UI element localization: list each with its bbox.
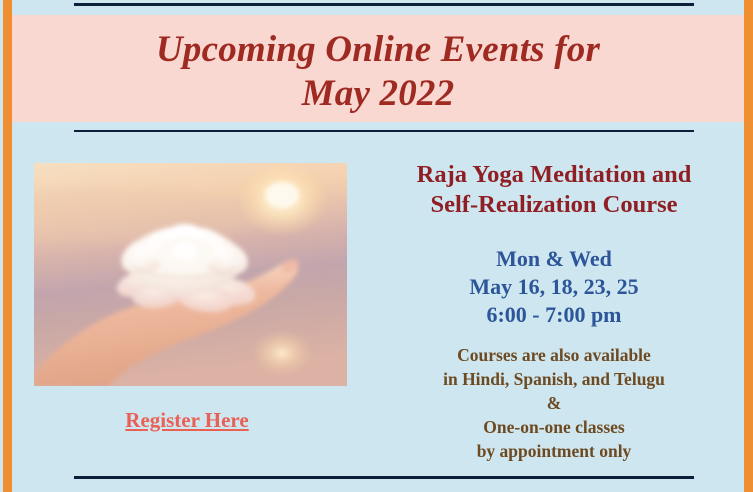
divider-bottom — [74, 476, 694, 479]
event-media-column: Register Here — [12, 140, 362, 470]
availability-line-1: Courses are also available — [364, 343, 744, 367]
course-availability-note: Courses are also available in Hindi, Spa… — [364, 343, 744, 463]
availability-line-3: & — [364, 391, 744, 415]
course-title-line-2: Self-Realization Course — [364, 190, 744, 220]
schedule-dates: May 16, 18, 23, 25 — [364, 273, 744, 301]
course-title: Raja Yoga Meditation and Self-Realizatio… — [364, 160, 744, 220]
accent-bar-left — [3, 0, 12, 492]
register-here-link[interactable]: Register Here — [125, 408, 248, 432]
page-title: Upcoming Online Events for May 2022 — [12, 28, 744, 116]
page-title-line-1: Upcoming Online Events for — [12, 28, 744, 72]
header-band: Upcoming Online Events for May 2022 — [12, 15, 744, 122]
page-title-line-2: May 2022 — [12, 72, 744, 116]
divider-middle — [74, 130, 694, 132]
availability-line-5: by appointment only — [364, 439, 744, 463]
flyer-content: Upcoming Online Events for May 2022 — [12, 0, 744, 492]
availability-line-2: in Hindi, Spanish, and Telugu — [364, 367, 744, 391]
register-link-wrapper: Register Here — [12, 408, 362, 433]
course-schedule: Mon & Wed May 16, 18, 23, 25 6:00 - 7:00… — [364, 245, 744, 329]
event-details-column: Raja Yoga Meditation and Self-Realizatio… — [364, 140, 744, 470]
schedule-time: 6:00 - 7:00 pm — [364, 301, 744, 329]
event-section: Register Here Raja Yoga Meditation and S… — [12, 140, 744, 470]
schedule-days: Mon & Wed — [364, 245, 744, 273]
newsletter-flyer: Upcoming Online Events for May 2022 — [0, 0, 753, 492]
course-title-line-1: Raja Yoga Meditation and — [364, 160, 744, 190]
availability-line-4: One-on-one classes — [364, 415, 744, 439]
accent-bar-right — [744, 0, 753, 492]
divider-top — [74, 3, 694, 6]
lotus-in-hand-image — [34, 163, 347, 386]
